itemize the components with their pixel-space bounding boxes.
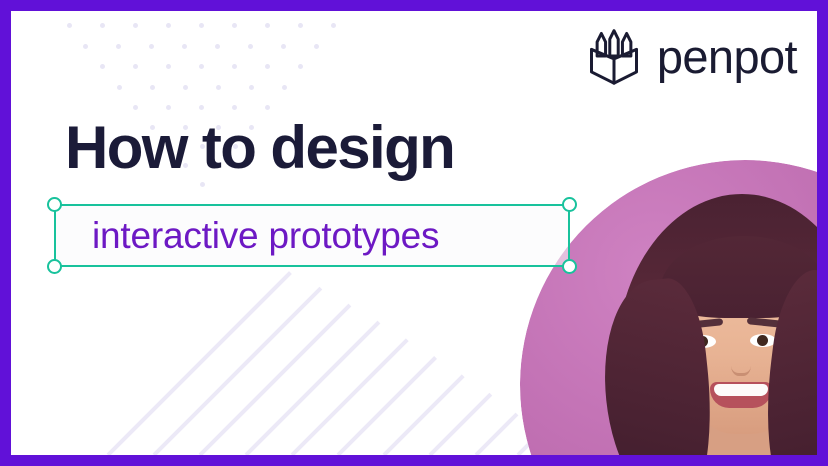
portrait-teeth xyxy=(714,384,768,396)
decoration-dot xyxy=(67,23,72,28)
decoration-dot xyxy=(166,23,171,28)
decoration-dot xyxy=(232,64,237,69)
decoration-dot xyxy=(200,182,205,187)
decoration-dot xyxy=(265,23,270,28)
subtitle-text: interactive prototypes xyxy=(92,215,439,257)
decoration-dot xyxy=(232,23,237,28)
decoration-dot xyxy=(166,105,171,110)
decoration-dot xyxy=(150,85,155,90)
decoration-dot xyxy=(199,23,204,28)
portrait-eye-right xyxy=(750,334,776,347)
decoration-dot xyxy=(265,105,270,110)
decoration-stripe xyxy=(383,374,465,455)
decoration-dot xyxy=(149,44,154,49)
decoration-stripe xyxy=(245,321,381,455)
portrait-pupil-right xyxy=(757,335,768,346)
selection-bounding-box[interactable]: interactive prototypes xyxy=(54,204,570,267)
decoration-dot xyxy=(232,105,237,110)
resize-handle-top-left[interactable] xyxy=(47,197,62,212)
decoration-dot xyxy=(281,44,286,49)
decoration-dot xyxy=(314,44,319,49)
decoration-dot xyxy=(265,64,270,69)
penpot-logo: penpot xyxy=(584,25,797,87)
decoration-dot xyxy=(298,23,303,28)
slide-frame: penpot How to design interactive prototy… xyxy=(0,0,828,466)
decoration-dot xyxy=(83,44,88,49)
decoration-stripe xyxy=(107,271,292,455)
page-title: How to design xyxy=(65,116,454,179)
decoration-stripe xyxy=(153,287,323,455)
decoration-dot xyxy=(116,44,121,49)
decoration-dot xyxy=(117,85,122,90)
decoration-stripe xyxy=(291,338,409,455)
decoration-dot xyxy=(248,44,253,49)
decoration-dot xyxy=(133,23,138,28)
decoration-dot xyxy=(215,44,220,49)
decoration-dot xyxy=(199,105,204,110)
penpot-wordmark: penpot xyxy=(657,33,797,80)
portrait-mouth xyxy=(710,382,772,408)
penpot-pencil-pot-icon xyxy=(584,25,644,87)
decoration-dot xyxy=(100,23,105,28)
decoration-dot xyxy=(182,44,187,49)
decoration-stripe xyxy=(199,304,352,455)
decoration-dot xyxy=(166,64,171,69)
selected-text-object[interactable]: interactive prototypes xyxy=(43,193,581,278)
decoration-stripe xyxy=(475,413,519,455)
decoration-dot xyxy=(298,64,303,69)
decoration-dot xyxy=(199,64,204,69)
decoration-stripe xyxy=(337,356,437,455)
decoration-dot xyxy=(216,85,221,90)
resize-handle-bottom-left[interactable] xyxy=(47,259,62,274)
slide-canvas: penpot How to design interactive prototy… xyxy=(11,11,817,455)
portrait-nose xyxy=(731,350,751,376)
decoration-stripe xyxy=(429,393,493,455)
decoration-dot xyxy=(183,85,188,90)
decoration-dot xyxy=(100,64,105,69)
decoration-dot xyxy=(282,85,287,90)
resize-handle-bottom-right[interactable] xyxy=(562,259,577,274)
decoration-dot xyxy=(133,105,138,110)
decoration-dot xyxy=(133,64,138,69)
decoration-dot xyxy=(249,85,254,90)
resize-handle-top-right[interactable] xyxy=(562,197,577,212)
diagonal-stripes-decoration xyxy=(11,261,571,455)
decoration-dot xyxy=(331,23,336,28)
